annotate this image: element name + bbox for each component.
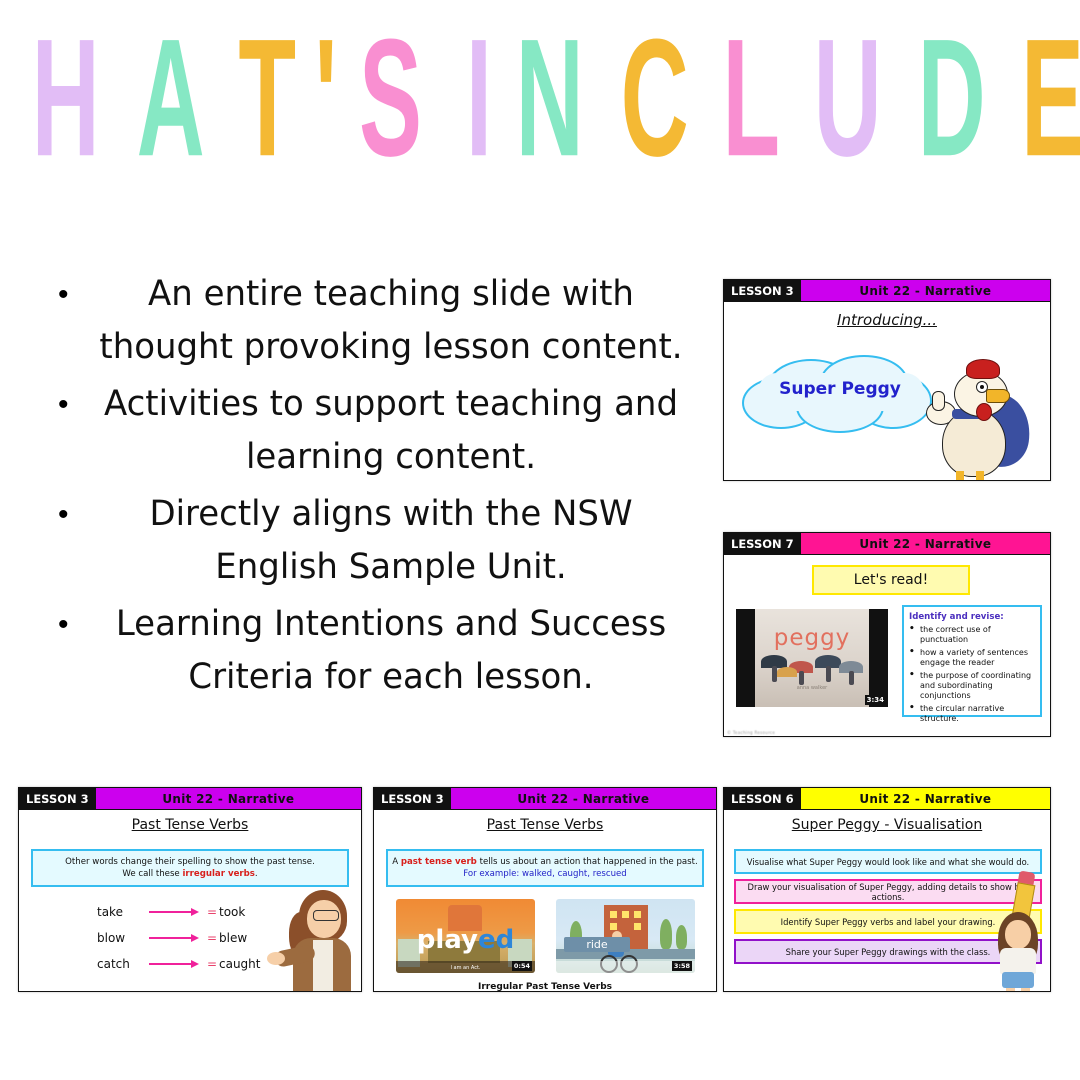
teacher-illustration	[279, 886, 357, 992]
title-letter: C	[621, 25, 688, 170]
slide-body: Past Tense Verbs Other words change thei…	[19, 817, 361, 992]
unit-title: Unit 22 - Narrative	[801, 533, 1050, 554]
arrow-icon	[149, 906, 203, 918]
unit-title: Unit 22 - Narrative	[451, 788, 716, 809]
info-line-1: Other words change their spelling to sho…	[65, 856, 315, 868]
slide-heading: Past Tense Verbs	[19, 817, 361, 833]
video-cover-art: peggy anna walker	[755, 609, 869, 707]
list-item-text: An entire teaching slide with thought pr…	[93, 268, 689, 374]
info-text-highlight: irregular verbs	[182, 869, 254, 879]
slide-thumbnail-past-tense-videos[interactable]: LESSON 3 Unit 22 - Narrative Past Tense …	[373, 787, 717, 992]
book-title: peggy	[755, 625, 869, 651]
info-box: Other words change their spelling to sho…	[31, 849, 349, 887]
video-thumbnail-ride[interactable]: ride 3:58	[556, 899, 695, 973]
verb-base: blow	[97, 931, 147, 945]
verb-past: caught	[219, 957, 260, 971]
info-line-2: We call these irregular verbs.	[122, 868, 257, 880]
info-line-1: A past tense verb tells us about an acti…	[392, 856, 698, 868]
panel-item-text: the purpose of coordinating and subordin…	[920, 671, 1036, 701]
features-list: • An entire teaching slide with thought …	[38, 268, 698, 708]
lesson-tag: LESSON 6	[724, 788, 801, 809]
video-duration: 3:58	[672, 961, 692, 971]
slide-body: Let's read! peggy anna walker 3:34 Ident…	[724, 555, 1050, 736]
slide-header: LESSON 3 Unit 22 - Narrative	[374, 788, 716, 810]
equals-sign: =	[205, 905, 219, 919]
panel-heading: Identify and revise:	[909, 612, 1036, 622]
step-box: Visualise what Super Peggy would look li…	[734, 849, 1042, 874]
video-word: played	[396, 925, 535, 955]
word-play: play	[417, 925, 478, 955]
bullet-marker: •	[38, 268, 84, 321]
list-item: • Directly aligns with the NSW English S…	[38, 488, 698, 594]
slide-thumbnail-visualisation[interactable]: LESSON 6 Unit 22 - Narrative Super Peggy…	[723, 787, 1051, 992]
thought-cloud: Super Peggy	[742, 355, 938, 431]
slide-header: LESSON 7 Unit 22 - Narrative	[724, 533, 1050, 555]
equals-sign: =	[205, 957, 219, 971]
slide-thumbnail-irregular-verbs[interactable]: LESSON 3 Unit 22 - Narrative Past Tense …	[18, 787, 362, 992]
info-text-period: .	[255, 869, 258, 879]
panel-item-text: the correct use of punctuation	[920, 625, 1036, 645]
verb-base: catch	[97, 957, 147, 971]
list-item-text: Learning Intentions and Success Criteria…	[93, 598, 689, 704]
slide-thumbnail-super-peggy[interactable]: LESSON 3 Unit 22 - Narrative Introducing…	[723, 279, 1051, 481]
panel-item-text: the circular narrative structure.	[920, 704, 1036, 724]
panel-list-item: •the purpose of coordinating and subordi…	[909, 671, 1036, 701]
slide-body: Super Peggy - Visualisation Visualise wh…	[724, 817, 1050, 992]
slide-header: LESSON 3 Unit 22 - Narrative	[19, 788, 361, 810]
verb-row: blow = blew	[97, 925, 277, 951]
equals-sign: =	[205, 931, 219, 945]
info-text-highlight: past tense verb	[401, 857, 477, 867]
slide-heading: Super Peggy - Visualisation	[724, 817, 1050, 833]
student-illustration	[988, 910, 1046, 992]
lesson-tag: LESSON 3	[19, 788, 96, 809]
info-example: For example: walked, caught, rescued	[463, 868, 627, 880]
title-letter: H	[32, 25, 99, 170]
video-duration: 0:54	[512, 961, 532, 971]
slide-thumbnail-lets-read[interactable]: LESSON 7 Unit 22 - Narrative Let's read!…	[723, 532, 1051, 737]
verb-past: blew	[219, 931, 247, 945]
word-ed: ed	[478, 925, 514, 955]
verb-row: take = took	[97, 899, 277, 925]
list-item: • Learning Intentions and Success Criter…	[38, 598, 698, 704]
book-author: anna walker	[755, 685, 869, 691]
slide-body: Past Tense Verbs A past tense verb tells…	[374, 817, 716, 992]
list-item-text: Activities to support teaching and learn…	[93, 378, 689, 484]
list-item: • An entire teaching slide with thought …	[38, 268, 698, 374]
verb-base: take	[97, 905, 147, 919]
title-letter: L	[722, 25, 779, 170]
panel-list-item: •how a variety of sentences engage the r…	[909, 648, 1036, 668]
arrow-icon	[149, 958, 203, 970]
slide-header: LESSON 6 Unit 22 - Narrative	[724, 788, 1050, 810]
title-letter: S	[359, 25, 421, 170]
slide-body: Introducing... Super Peggy © Teaching Re…	[724, 311, 1050, 481]
video-thumbnail-peggy[interactable]: peggy anna walker 3:34	[736, 609, 888, 707]
bullet-marker: •	[38, 598, 84, 651]
lesson-tag: LESSON 3	[724, 280, 801, 301]
list-item-text: Directly aligns with the NSW English Sam…	[93, 488, 689, 594]
title-letter: I	[466, 25, 492, 170]
superhero-chicken-illustration	[924, 357, 1032, 481]
verb-pairs-list: take = took blow = blew catch = caught	[97, 899, 277, 977]
identify-and-revise-panel: Identify and revise: •the correct use of…	[902, 605, 1042, 717]
slide-caption: Irregular Past Tense Verbs	[374, 982, 716, 992]
unit-title: Unit 22 - Narrative	[801, 788, 1050, 809]
slide-heading: Introducing...	[724, 311, 1050, 329]
list-item: • Activities to support teaching and lea…	[38, 378, 698, 484]
lesson-tag: LESSON 7	[724, 533, 801, 554]
info-box: A past tense verb tells us about an acti…	[386, 849, 704, 887]
title-letter: '	[315, 25, 337, 170]
bullet-marker: •	[38, 488, 84, 541]
title-letter: D	[918, 25, 985, 170]
lesson-tag: LESSON 3	[374, 788, 451, 809]
unit-title: Unit 22 - Narrative	[96, 788, 361, 809]
video-thumbnail-played[interactable]: played I am an Act. 0:54	[396, 899, 535, 973]
step-box: Draw your visualisation of Super Peggy, …	[734, 879, 1042, 904]
panel-list-item: •the correct use of punctuation	[909, 625, 1036, 645]
title-letter: T	[238, 25, 295, 170]
unit-title: Unit 22 - Narrative	[801, 280, 1050, 301]
info-text-plain: A	[392, 857, 401, 867]
title-letter: A	[137, 25, 204, 170]
title-letter: U	[813, 25, 880, 170]
slide-header: LESSON 3 Unit 22 - Narrative	[724, 280, 1050, 302]
slide-heading: Past Tense Verbs	[374, 817, 716, 833]
info-text-rest: tells us about an action that happened i…	[477, 857, 698, 867]
lets-read-banner: Let's read!	[812, 565, 970, 595]
info-text-plain: We call these	[122, 869, 182, 879]
title-letter: N	[516, 25, 583, 170]
arrow-icon	[149, 932, 203, 944]
title-letter: E	[1021, 25, 1080, 170]
slide-credit: © Teaching Resource	[727, 730, 775, 735]
cloud-label: Super Peggy	[742, 379, 938, 399]
video-duration: 3:34	[865, 695, 886, 705]
page-title: WHAT'S INCLUDED	[0, 28, 1080, 168]
panel-list-item: •the circular narrative structure.	[909, 704, 1036, 724]
video-label-ride: ride	[564, 937, 630, 952]
title-letter	[436, 32, 462, 164]
verb-row: catch = caught	[97, 951, 277, 977]
bullet-marker: •	[38, 378, 84, 431]
verb-past: took	[219, 905, 245, 919]
panel-item-text: how a variety of sentences engage the re…	[920, 648, 1036, 668]
